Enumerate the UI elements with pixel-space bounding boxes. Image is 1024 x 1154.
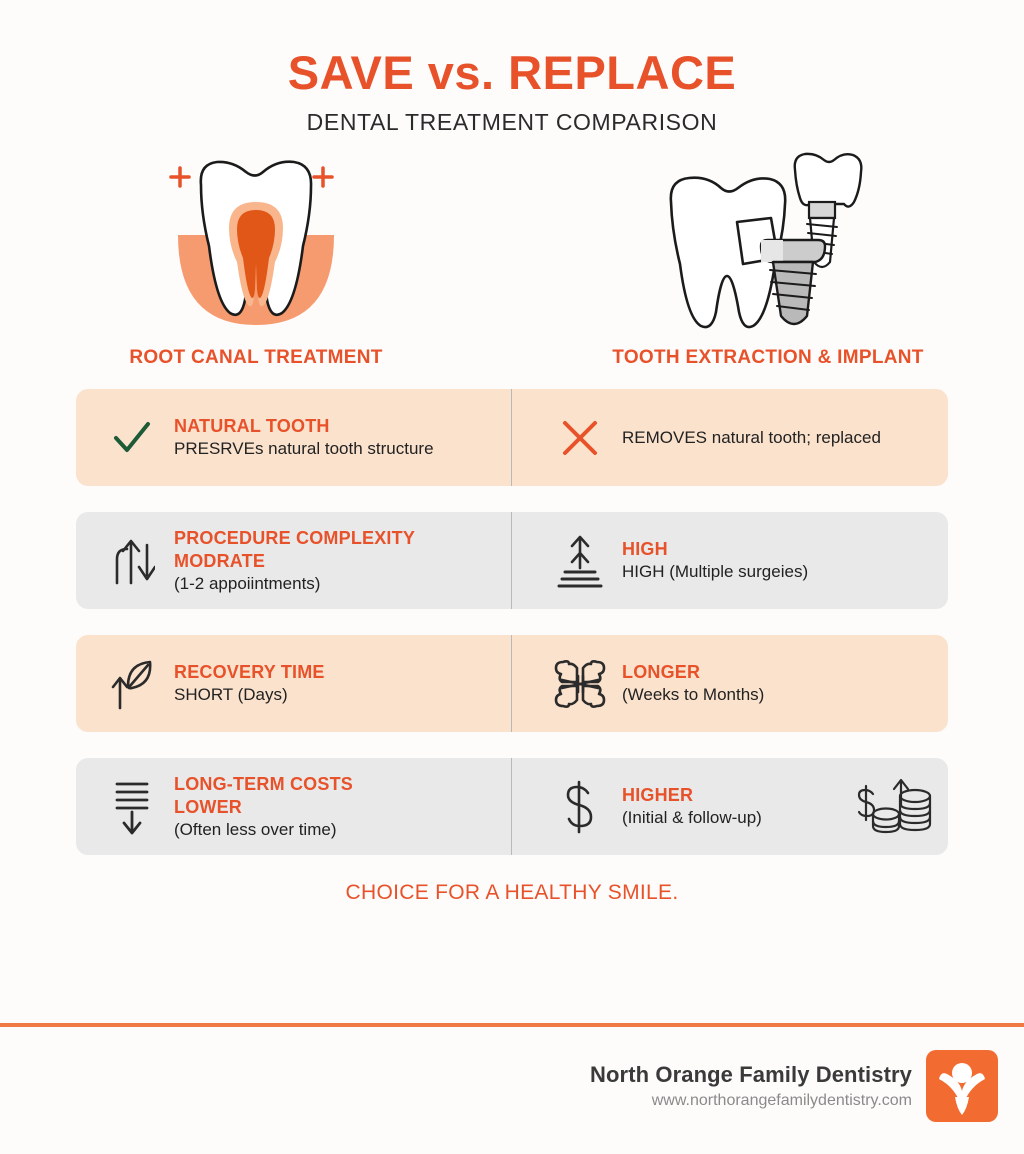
row3-left-text: RECOVERY TIME SHORT (Days) xyxy=(160,661,325,706)
row2-left-text: PROCEDURE COMPLEXITY MODRATE (1-2 appoii… xyxy=(160,527,415,595)
comparison-row-complexity: PROCEDURE COMPLEXITY MODRATE (1-2 appoii… xyxy=(76,512,948,609)
footer-text: North Orange Family Dentistry www.northo… xyxy=(590,1062,912,1110)
row1-left-cell: NATURAL TOOTH PRESRVEs natural tooth str… xyxy=(76,389,512,486)
row2-right-cell: HIGH HIGH (Multiple surgeies) xyxy=(512,512,948,609)
lines-down-arrow-icon xyxy=(104,779,160,835)
row4-left-cell: LONG-TERM COSTS LOWER (Often less over t… xyxy=(76,758,512,855)
person-raised-arms-logo xyxy=(926,1050,998,1122)
row4-left-text: LONG-TERM COSTS LOWER (Often less over t… xyxy=(160,773,353,841)
row2-right-text: HIGH HIGH (Multiple surgeies) xyxy=(608,538,808,583)
header: SAVE vs. REPLACE DENTAL TREATMENT COMPAR… xyxy=(0,0,1024,136)
row4-right-text: HIGHER (Initial & follow-up) xyxy=(608,784,762,829)
row4-right-head: HIGHER xyxy=(622,784,762,807)
row2-right-head: HIGH xyxy=(622,538,808,561)
row4-left-head: LONG-TERM COSTS xyxy=(174,773,353,796)
row4-right-cell: HIGHER (Initial & follow-up) xyxy=(512,758,948,855)
row1-right-cell: REMOVES natural tooth; replaced xyxy=(512,389,948,486)
row1-left-text: NATURAL TOOTH PRESRVEs natural tooth str… xyxy=(160,415,434,460)
row3-left-cell: RECOVERY TIME SHORT (Days) xyxy=(76,635,512,732)
row2-left-cell: PROCEDURE COMPLEXITY MODRATE (1-2 appoii… xyxy=(76,512,512,609)
leaf-growth-icon xyxy=(104,658,160,710)
tooth-root-canal-illustration xyxy=(151,150,361,335)
dollar-sign-icon xyxy=(552,780,608,834)
page-title: SAVE vs. REPLACE xyxy=(0,48,1024,97)
crossed-bones-icon xyxy=(552,658,608,710)
illustrations-row xyxy=(0,150,1024,335)
row3-right-head: LONGER xyxy=(622,661,764,684)
row3-right-text: LONGER (Weeks to Months) xyxy=(608,661,764,706)
brand-name: North Orange Family Dentistry xyxy=(590,1062,912,1088)
comparison-rows: NATURAL TOOTH PRESRVEs natural tooth str… xyxy=(0,389,1024,855)
row2-left-sub: (1-2 appoiintments) xyxy=(174,573,415,595)
row3-right-cell: LONGER (Weeks to Months) xyxy=(512,635,948,732)
illustration-extraction-implant xyxy=(512,150,1024,335)
comparison-row-costs: LONG-TERM COSTS LOWER (Often less over t… xyxy=(76,758,948,855)
column-heading-root-canal: ROOT CANAL TREATMENT xyxy=(0,347,512,369)
row2-right-sub: HIGH (Multiple surgeies) xyxy=(622,561,808,583)
row3-right-sub: (Weeks to Months) xyxy=(622,684,764,706)
row2-left-head: PROCEDURE COMPLEXITY xyxy=(174,527,415,550)
arrows-over-lines-icon xyxy=(552,534,608,588)
infographic-page: SAVE vs. REPLACE DENTAL TREATMENT COMPAR… xyxy=(0,0,1024,1154)
page-subtitle: DENTAL TREATMENT COMPARISON xyxy=(0,109,1024,136)
row4-left-sub: (Often less over time) xyxy=(174,819,353,841)
implant-screw-icon xyxy=(761,240,825,324)
tagline: CHOICE FOR A HEALTHY SMILE. xyxy=(0,881,1024,905)
coins-stack-up-arrow-icon xyxy=(854,776,948,838)
footer: North Orange Family Dentistry www.northo… xyxy=(0,1050,1024,1122)
tooth-extraction-implant-illustration xyxy=(653,150,883,335)
comparison-row-recovery: RECOVERY TIME SHORT (Days) xyxy=(76,635,948,732)
column-headings: ROOT CANAL TREATMENT TOOTH EXTRACTION & … xyxy=(0,347,1024,369)
row3-left-head: RECOVERY TIME xyxy=(174,661,325,684)
row1-right-sub: REMOVES natural tooth; replaced xyxy=(622,427,881,449)
row4-left-head2: LOWER xyxy=(174,796,353,819)
row3-left-sub: SHORT (Days) xyxy=(174,684,325,706)
comparison-row-natural-tooth: NATURAL TOOTH PRESRVEs natural tooth str… xyxy=(76,389,948,486)
up-down-arrows-icon xyxy=(104,535,160,587)
row1-left-head: NATURAL TOOTH xyxy=(174,415,434,438)
illustration-root-canal xyxy=(0,150,512,335)
brand-url[interactable]: www.northorangefamilydentistry.com xyxy=(590,1092,912,1110)
column-heading-extraction: TOOTH EXTRACTION & IMPLANT xyxy=(512,347,1024,369)
row1-right-text: REMOVES natural tooth; replaced xyxy=(608,427,881,449)
footer-divider xyxy=(0,1023,1024,1027)
row2-left-head2: MODRATE xyxy=(174,550,415,573)
row4-right-sub: (Initial & follow-up) xyxy=(622,807,762,829)
check-icon xyxy=(104,418,160,458)
cross-x-icon xyxy=(552,416,608,460)
row1-left-sub: PRESRVEs natural tooth structure xyxy=(174,438,434,460)
